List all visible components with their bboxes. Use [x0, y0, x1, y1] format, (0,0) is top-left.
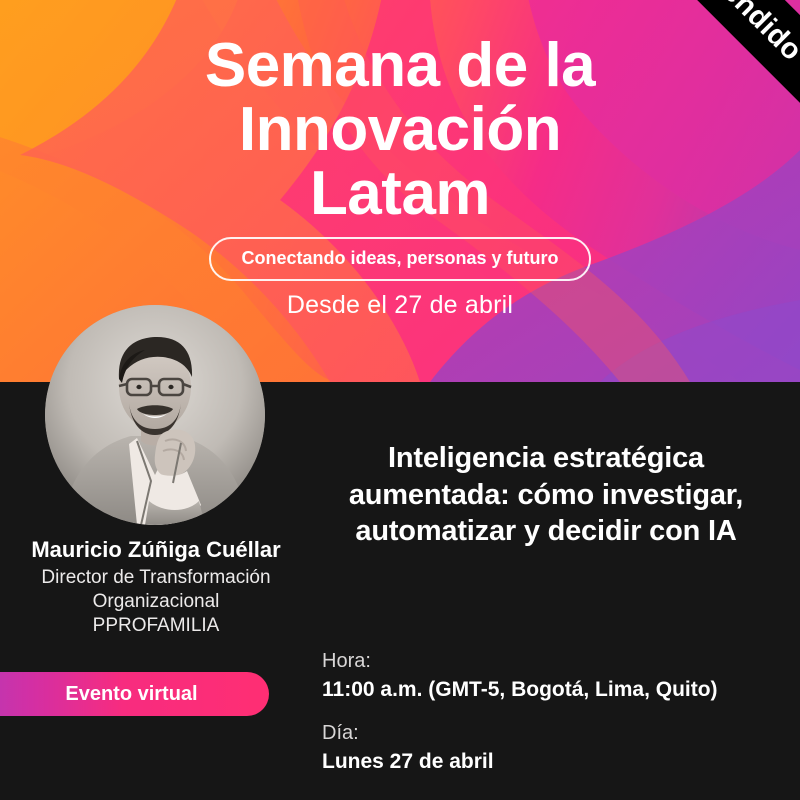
speaker-info: Mauricio Zúñiga Cuéllar Director de Tran…	[0, 536, 312, 638]
virtual-event-badge: Evento virtual	[0, 672, 269, 716]
talk-title: Inteligencia estratégica aumentada: cómo…	[300, 440, 792, 550]
talk-title-line-2: aumentada: cómo investigar,	[300, 477, 792, 514]
speaker-portrait	[45, 305, 265, 525]
speaker-name: Mauricio Zúñiga Cuéllar	[0, 536, 312, 564]
talk-title-line-1: Inteligencia estratégica	[300, 440, 792, 477]
day-label: Día:	[322, 720, 718, 747]
time-value: 11:00 a.m. (GMT-5, Bogotá, Lima, Quito)	[322, 675, 718, 704]
title-line-3: Latam	[0, 162, 800, 226]
title-line-2: Innovación	[0, 98, 800, 162]
page-title: Semana de la Innovación Latam	[0, 34, 800, 226]
speaker-role-line-1: Director de Transformación	[0, 566, 312, 590]
time-label: Hora:	[322, 648, 718, 675]
tagline-pill: Conectando ideas, personas y futuro	[209, 237, 590, 281]
speaker-role-line-2: Organizacional	[0, 590, 312, 614]
tagline-container: Conectando ideas, personas y futuro	[0, 237, 800, 281]
event-poster: Extendido Semana de la Innovación Latam …	[0, 0, 800, 800]
portrait-illustration	[45, 305, 265, 525]
details-spacer	[322, 704, 718, 720]
day-value: Lunes 27 de abril	[322, 747, 718, 776]
virtual-event-label: Evento virtual	[35, 683, 197, 706]
talk-title-line-3: automatizar y decidir con IA	[300, 513, 792, 550]
event-details: Hora: 11:00 a.m. (GMT-5, Bogotá, Lima, Q…	[322, 648, 718, 777]
speaker-organization: PPROFAMILIA	[0, 614, 312, 638]
title-line-1: Semana de la	[0, 34, 800, 98]
